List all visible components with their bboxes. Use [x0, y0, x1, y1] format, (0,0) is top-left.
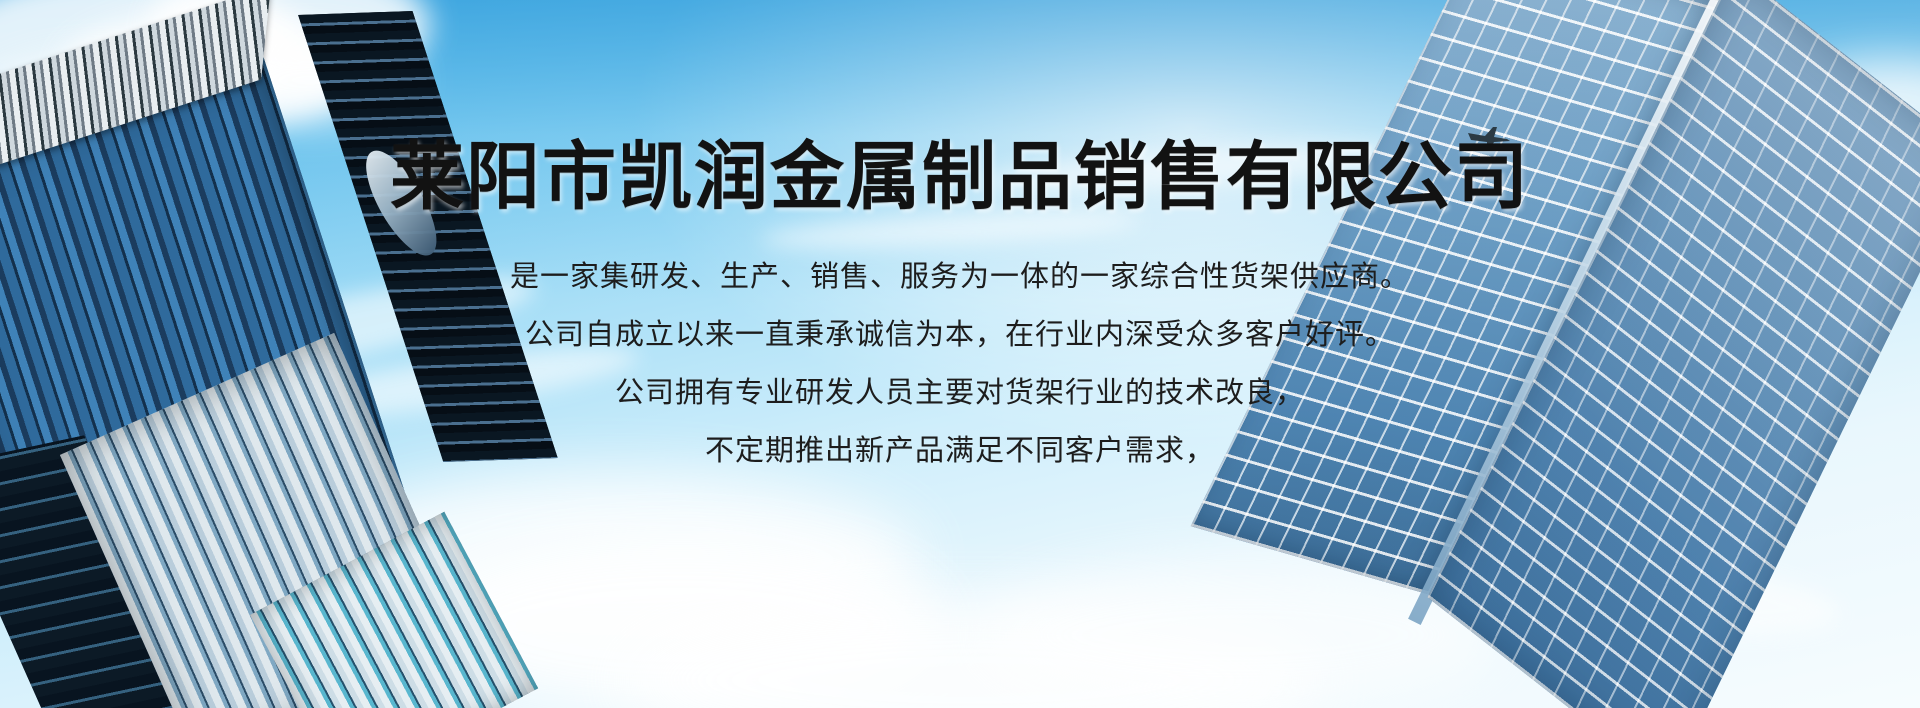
description-line-4: 不定期推出新产品满足不同客户需求，	[0, 422, 1920, 480]
description-line-3: 公司拥有专业研发人员主要对货架行业的技术改良，	[0, 364, 1920, 422]
description-line-2: 公司自成立以来一直秉承诚信为本，在行业内深受众多客户好评。	[0, 306, 1920, 364]
page-title: 莱阳市凯润金属制品销售有限公司	[0, 0, 1920, 214]
company-hero-banner: 莱阳市凯润金属制品销售有限公司 是一家集研发、生产、销售、服务为一体的一家综合性…	[0, 0, 1920, 708]
description-line-1: 是一家集研发、生产、销售、服务为一体的一家综合性货架供应商。	[0, 248, 1920, 306]
company-description: 是一家集研发、生产、销售、服务为一体的一家综合性货架供应商。 公司自成立以来一直…	[0, 248, 1920, 480]
banner-text-block: 莱阳市凯润金属制品销售有限公司 是一家集研发、生产、销售、服务为一体的一家综合性…	[0, 0, 1920, 480]
